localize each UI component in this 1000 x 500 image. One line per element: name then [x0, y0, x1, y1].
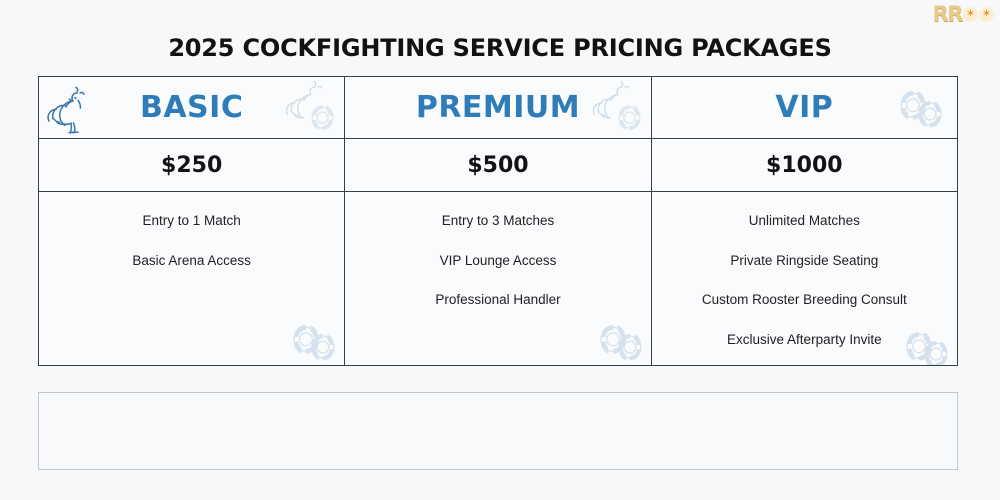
plan-price-cell-premium: $500 [345, 139, 650, 192]
poker-chips-icon [895, 81, 953, 133]
plan-header-basic: BASIC [39, 77, 344, 139]
price-vip: $1000 [766, 153, 843, 178]
logo-nines: ✶ ✶ [963, 7, 994, 22]
feature-list-premium: Entry to 3 Matches VIP Lounge Access Pro… [345, 192, 650, 365]
feature-item: Custom Rooster Breeding Consult [652, 293, 957, 307]
bottom-empty-panel [38, 392, 958, 470]
price-premium: $500 [467, 153, 528, 178]
pricing-column-vip: VIP [652, 77, 957, 365]
star-icon: ✶ [982, 9, 991, 20]
poker-chips-icon [282, 313, 340, 363]
feature-item: Unlimited Matches [652, 214, 957, 228]
plan-name-basic: BASIC [140, 90, 243, 125]
feature-item: Private Ringside Seating [652, 254, 957, 268]
poker-chips-icon [589, 313, 647, 363]
pricing-table: BASIC [38, 76, 958, 366]
logo-text: RR [933, 4, 962, 25]
logo-nine-circle-1: ✶ [963, 7, 978, 22]
plan-header-vip: VIP [652, 77, 957, 139]
plan-name-vip: VIP [775, 90, 833, 125]
brand-logo: RR ✶ ✶ [933, 4, 994, 25]
page-title: 2025 COCKFIGHTING SERVICE PRICING PACKAG… [0, 34, 1000, 62]
logo-nine-circle-2: ✶ [979, 7, 994, 22]
plan-price-cell-basic: $250 [39, 139, 344, 192]
rooster-chip-icon [589, 81, 647, 137]
plan-name-premium: PREMIUM [416, 90, 580, 125]
rooster-chip-icon [282, 81, 340, 137]
plan-price-cell-vip: $1000 [652, 139, 957, 192]
star-icon: ✶ [966, 9, 975, 20]
pricing-column-basic: BASIC [39, 77, 345, 365]
feature-list-basic: Entry to 1 Match Basic Arena Access [39, 192, 344, 365]
rooster-icon [47, 85, 93, 137]
feature-list-vip: Unlimited Matches Private Ringside Seati… [652, 192, 957, 365]
feature-item: VIP Lounge Access [345, 254, 650, 268]
price-basic: $250 [161, 153, 222, 178]
feature-item: Entry to 3 Matches [345, 214, 650, 228]
feature-item: Exclusive Afterparty Invite [652, 333, 957, 347]
feature-item: Professional Handler [345, 293, 650, 307]
plan-header-premium: PREMIUM [345, 77, 650, 139]
feature-item: Basic Arena Access [39, 254, 344, 268]
feature-item: Entry to 1 Match [39, 214, 344, 228]
pricing-column-premium: PREMIUM [345, 77, 651, 365]
